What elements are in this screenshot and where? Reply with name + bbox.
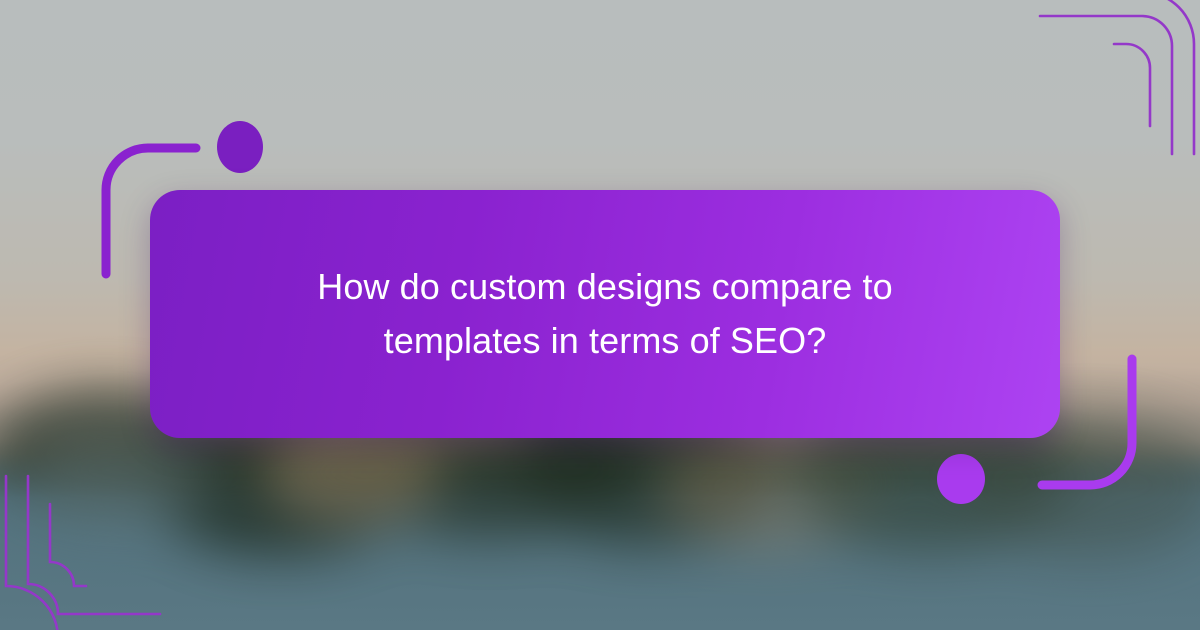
question-title: How do custom designs compare to templat… — [285, 260, 925, 368]
social-card-canvas: How do custom designs compare to templat… — [0, 0, 1200, 630]
accent-dot-bottom-right-icon — [937, 454, 985, 504]
accent-dot-top-left-icon — [217, 121, 263, 173]
background-blob — [20, 430, 220, 520]
question-card: How do custom designs compare to templat… — [150, 190, 1060, 438]
